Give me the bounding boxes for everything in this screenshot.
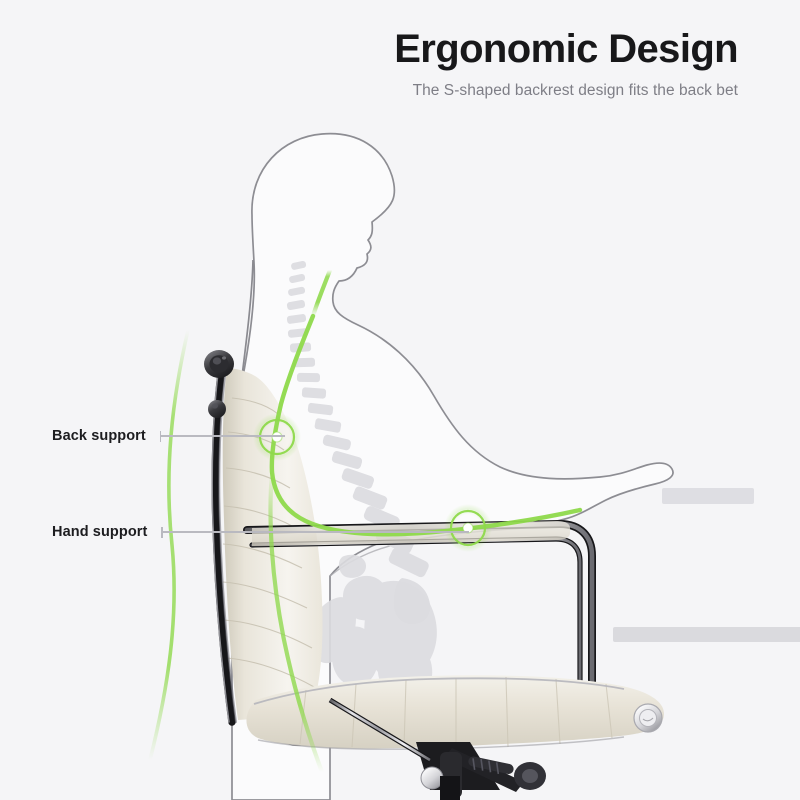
leader-line bbox=[161, 435, 285, 436]
backrest-tilt-knob bbox=[204, 350, 234, 378]
backrest-lower-knob bbox=[208, 400, 226, 418]
callout-hand-support-label: Hand support bbox=[52, 524, 147, 540]
callout-hand-support: Hand support bbox=[52, 524, 469, 540]
chair-caster bbox=[634, 704, 662, 732]
leader-line bbox=[163, 531, 469, 532]
desk-surface bbox=[613, 488, 800, 642]
ergonomic-chair-illustration bbox=[0, 0, 800, 800]
callout-back-support-label: Back support bbox=[52, 428, 146, 444]
secondary-green-line bbox=[150, 330, 188, 760]
callout-back-support: Back support bbox=[52, 428, 285, 444]
chair-tilt-mechanism bbox=[416, 742, 546, 800]
illustration-page: Ergonomic Design The S-shaped backrest d… bbox=[0, 0, 800, 800]
